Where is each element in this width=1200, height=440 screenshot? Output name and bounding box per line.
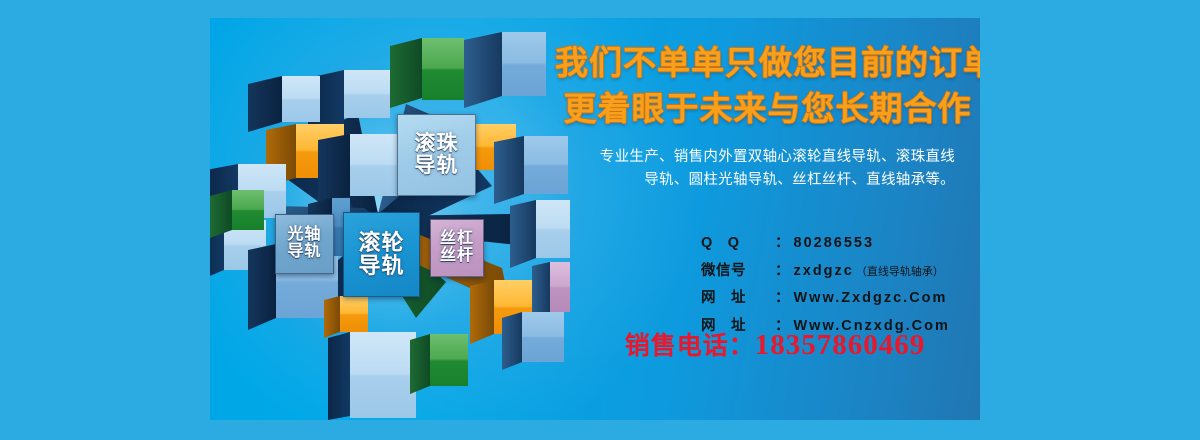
- sales-phone-number: 18357860469: [755, 329, 926, 361]
- website-1-colon: ：: [775, 285, 790, 313]
- copy-column: 我们不单单只做您目前的订单 更着眼于未来与您长期合作 专业生产、销售内外置双轴心…: [555, 18, 980, 420]
- chip-line2: 导轨: [358, 255, 404, 278]
- contact-block: Q Q ： 80286553 微信号 ： zxdgzc （直线导轨轴承） 网 址…: [701, 230, 980, 340]
- wechat-note: （直线导轨轴承）: [856, 262, 944, 283]
- promo-banner: 滚珠 导轨 光轴 导轨 滚轮 导轨 丝杠 丝杆 我们不单单只做您目前的订单 更着…: [0, 0, 1200, 440]
- product-chip-gunzhu-daogui: 滚珠 导轨: [397, 114, 476, 196]
- qq-colon: ：: [775, 230, 790, 258]
- chip-line2: 导轨: [287, 244, 321, 261]
- product-chip-guangzhou-daogui: 光轴 导轨: [275, 214, 334, 274]
- wechat-colon: ：: [775, 258, 790, 286]
- sales-phone: 销售电话：18357860469: [575, 326, 975, 362]
- chip-line1: 光轴: [287, 227, 321, 244]
- chip-line1: 滚珠: [415, 133, 459, 155]
- chip-line2: 导轨: [415, 155, 459, 177]
- website-1-label: 网 址: [701, 285, 775, 313]
- website-1-value[interactable]: Www.Zxdgzc.Com: [794, 285, 948, 313]
- product-chip-sigang-sigan: 丝杠 丝杆: [430, 219, 484, 277]
- chip-line1: 丝杠: [440, 231, 474, 248]
- product-chip-gunlun-daogui: 滚轮 导轨: [343, 212, 420, 297]
- description-text: 专业生产、销售内外置双轴心滚轮直线导轨、滚珠直线导轨、圆柱光轴导轨、丝杠丝杆、直…: [595, 146, 955, 193]
- sales-phone-label: 销售电话：: [625, 332, 755, 360]
- headline: 我们不单单只做您目前的订单 更着眼于未来与您长期合作: [555, 42, 980, 129]
- qq-value: 80286553: [794, 230, 875, 258]
- qq-label: Q Q: [701, 230, 775, 258]
- contact-row-qq: Q Q ： 80286553: [701, 230, 980, 258]
- wechat-value: zxdgzc: [794, 258, 854, 286]
- chip-line2: 丝杆: [440, 248, 474, 265]
- headline-line-1: 我们不单单只做您目前的订单: [555, 42, 980, 84]
- wechat-label: 微信号: [701, 258, 775, 286]
- headline-line-2: 更着眼于未来与您长期合作: [555, 88, 980, 130]
- chip-line1: 滚轮: [358, 232, 404, 255]
- contact-row-website-1: 网 址 ： Www.Zxdgzc.Com: [701, 285, 980, 313]
- banner-panel: 滚珠 导轨 光轴 导轨 滚轮 导轨 丝杠 丝杆 我们不单单只做您目前的订单 更着…: [210, 18, 980, 420]
- contact-row-wechat: 微信号 ： zxdgzc （直线导轨轴承）: [701, 258, 980, 286]
